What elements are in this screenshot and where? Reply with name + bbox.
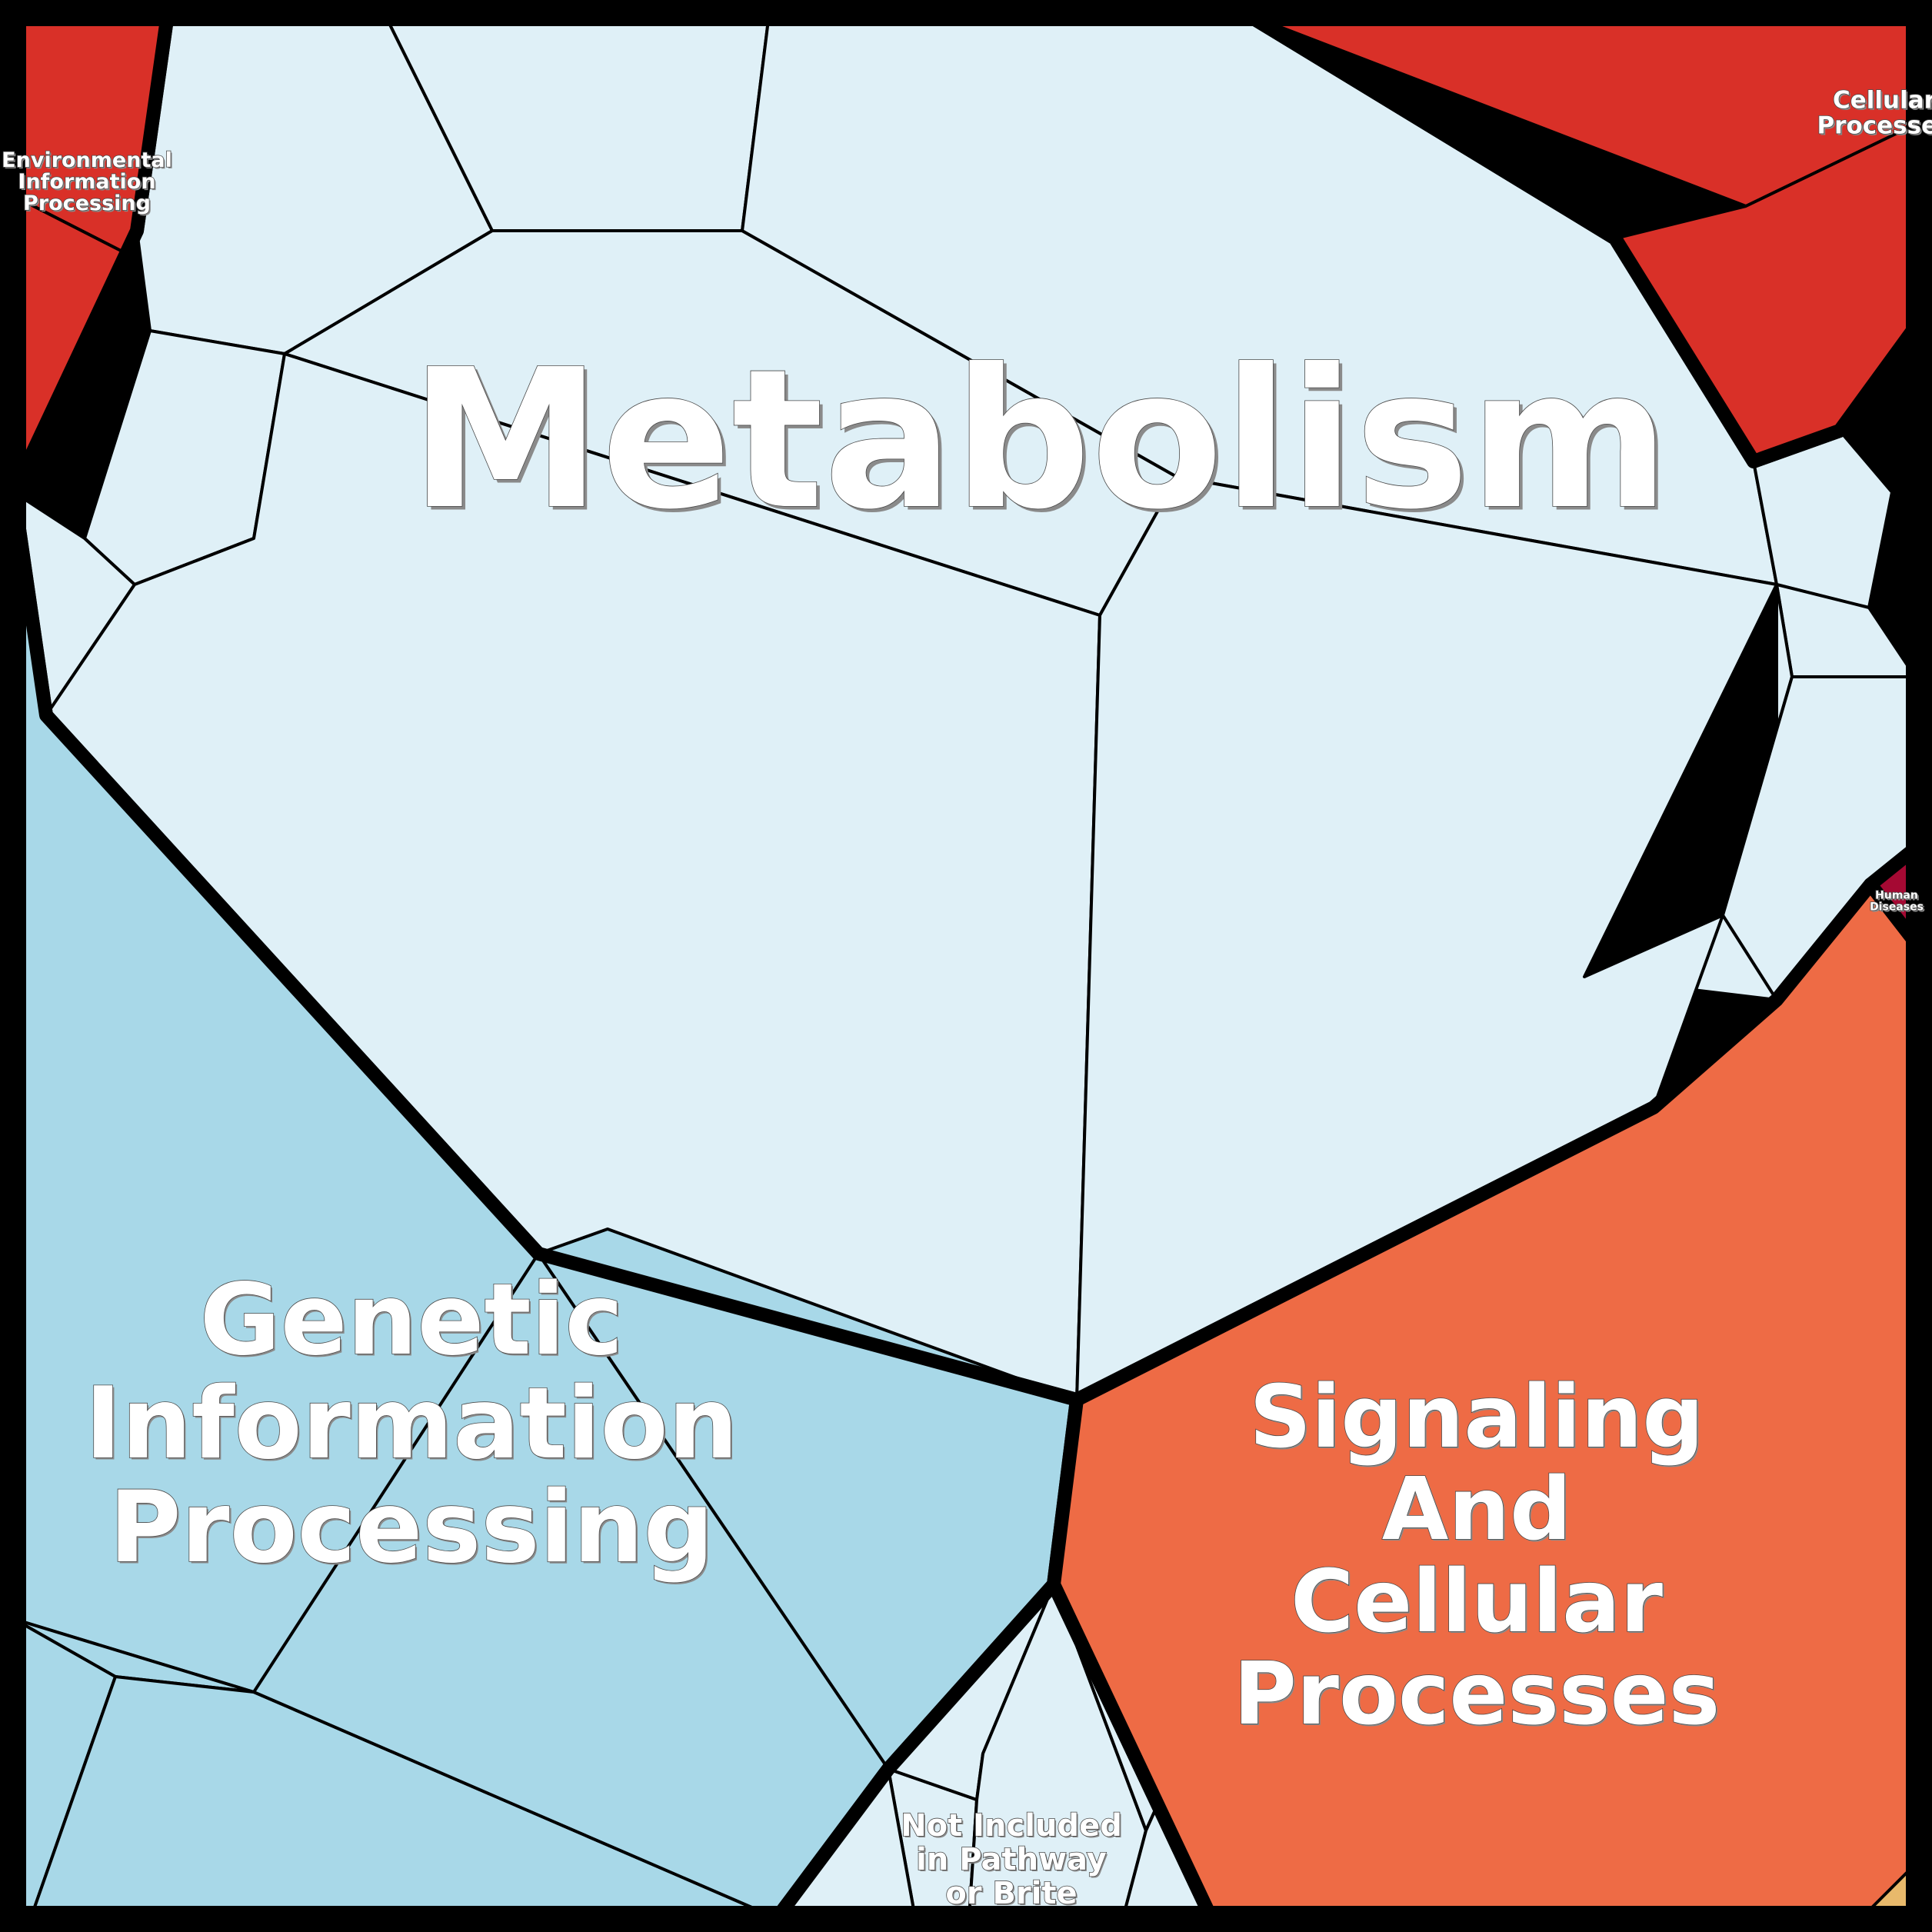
label-group-cellular-processes: CellularProcessesCellularProcesses (1817, 86, 1932, 141)
voronoi-treemap-figure: MetabolismMetabolismGeneticInformationPr… (0, 0, 1932, 1932)
label-human-diseases: HumanDiseases (1870, 890, 1924, 914)
label-metabolism: Metabolism (410, 328, 1670, 551)
label-cellular-processes: CellularProcesses (1817, 86, 1932, 139)
label-group-human-diseases: HumanDiseasesHumanDiseases (1870, 890, 1925, 915)
label-signaling-and-cellular-processes: SignalingAndCellularProcesses (1234, 1367, 1720, 1744)
treemap-svg: MetabolismMetabolismGeneticInformationPr… (0, 0, 1932, 1932)
label-environmental-information-processing: EnvironmentalInformationProcessing (2, 148, 172, 215)
label-group-environmental-information-processing: EnvironmentalInformationProcessingEnviro… (2, 148, 174, 217)
label-group-signaling-and-cellular-processes: SignalingAndCellularProcessesSignalingAn… (1234, 1367, 1722, 1746)
label-group-metabolism: MetabolismMetabolism (410, 328, 1673, 555)
